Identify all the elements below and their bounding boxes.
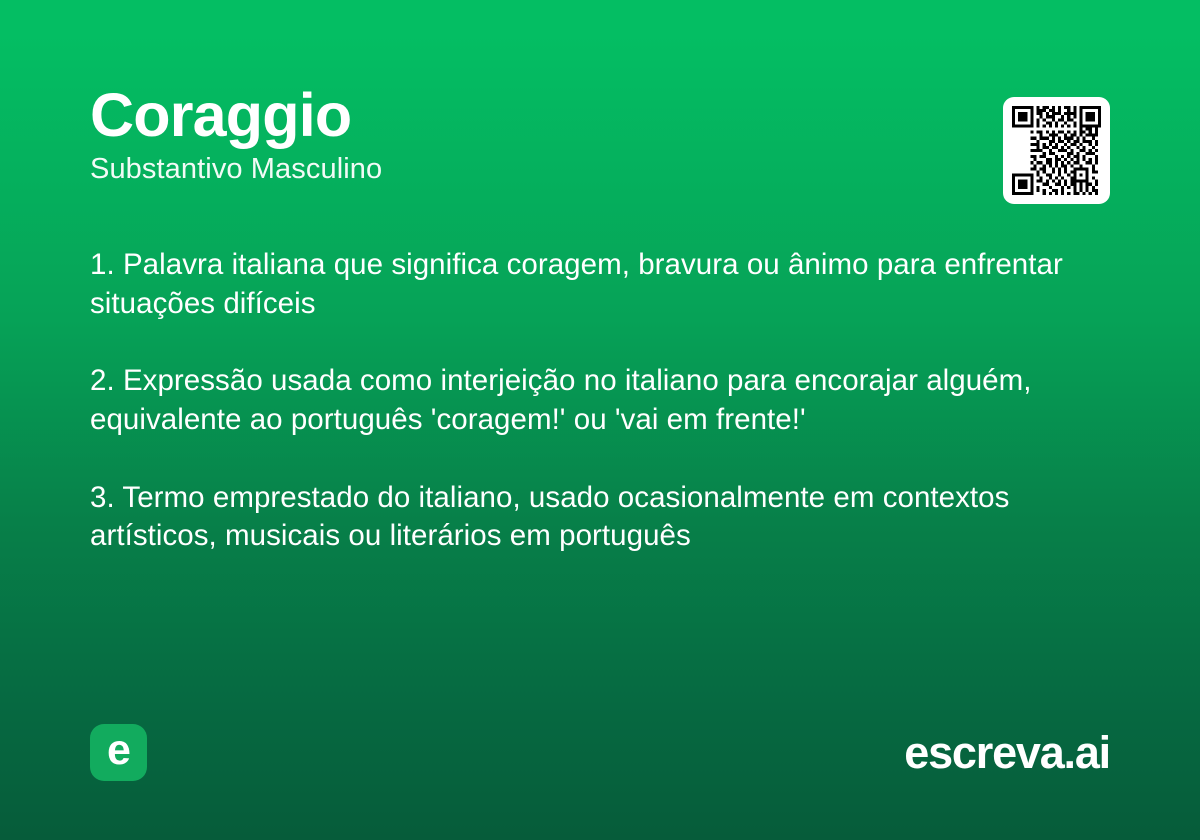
qr-code-card[interactable]	[1003, 97, 1110, 204]
definitions-list: 1. Palavra italiana que significa corage…	[90, 246, 1108, 556]
definition-item: 1. Palavra italiana que significa corage…	[90, 246, 1108, 323]
dictionary-card: Coraggio Substantivo Masculino	[0, 0, 1200, 840]
qr-code-icon	[1012, 106, 1101, 195]
definition-item: 3. Termo emprestado do italiano, usado o…	[90, 479, 1108, 556]
page-title: Coraggio	[90, 84, 970, 147]
definition-item: 2. Expressão usada como interjeição no i…	[90, 362, 1108, 439]
card-header: Coraggio Substantivo Masculino	[90, 84, 970, 187]
word-class-label: Substantivo Masculino	[90, 153, 970, 186]
brand-wordmark: escreva.ai	[904, 722, 1110, 782]
brand-logo: e	[90, 724, 147, 781]
brand-logo-letter: e	[107, 729, 130, 772]
